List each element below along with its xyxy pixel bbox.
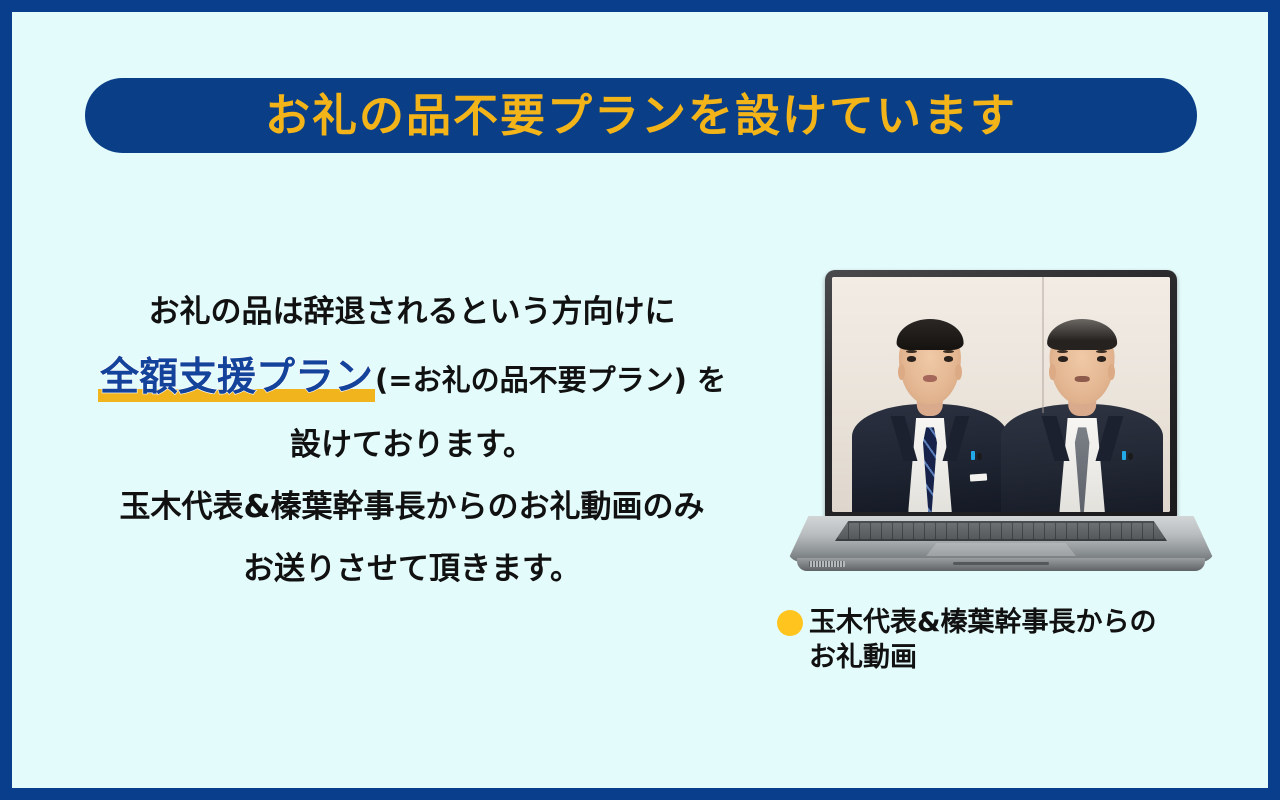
laptop-trackpad — [926, 543, 1076, 556]
title-banner: お礼の品不要プランを設けています — [85, 78, 1197, 153]
keyboard-key — [1013, 523, 1023, 539]
slide-root: お礼の品不要プランを設けています お礼の品は辞退されるという方向けに 全額支援プ… — [0, 0, 1280, 800]
keyboard-key — [860, 523, 870, 539]
keyboard-key — [936, 523, 946, 539]
keyboard-key — [1023, 523, 1033, 539]
filled-circle-icon — [777, 610, 803, 636]
lapel-pin-black-icon — [1128, 453, 1133, 460]
highlight-phrase: 全額支援プラン — [98, 357, 375, 400]
person-left — [852, 277, 1007, 512]
keyboard-key — [1067, 523, 1077, 539]
keyboard-key — [980, 523, 990, 539]
laptop-base — [787, 516, 1215, 578]
eye-right — [944, 356, 953, 361]
keyboard-key — [903, 523, 913, 539]
highlight-phrase-text: 全額支援プラン — [100, 355, 373, 400]
body-line-3: 設けております。 — [42, 428, 782, 462]
lapel-pin-blue-icon — [971, 451, 975, 460]
body-line-1: お礼の品は辞退されるという方向けに — [42, 295, 782, 329]
keyboard-key — [1034, 523, 1044, 539]
laptop-lid-notch — [953, 562, 1049, 565]
caption-line-1: 玉木代表&榛葉幹事長からの — [809, 606, 1157, 641]
laptop-caption: 玉木代表&榛葉幹事長からの お礼動画 — [777, 606, 1247, 675]
keyboard-key — [914, 523, 924, 539]
laptop-lid — [825, 270, 1177, 518]
body-text-block: お礼の品は辞退されるという方向けに 全額支援プラン (=お礼の品不要プラン) を… — [42, 295, 782, 586]
body-line-4: 玉木代表&榛葉幹事長からのお礼動画のみ — [42, 490, 782, 524]
laptop-screen — [832, 277, 1170, 512]
eye-left — [907, 356, 916, 361]
body-line-2: 全額支援プラン (=お礼の品不要プラン) を — [42, 357, 782, 400]
keyboard-key — [1002, 523, 1012, 539]
hair — [1047, 319, 1117, 350]
keyboard-key — [1045, 523, 1055, 539]
person-right — [1001, 277, 1163, 512]
ear-right — [1108, 364, 1115, 380]
keyboard-key — [1122, 523, 1132, 539]
eye-right — [1097, 356, 1107, 361]
keyboard-key — [882, 523, 892, 539]
lapel-pin-black-icon — [977, 453, 982, 460]
body-line-5: お送りさせて頂きます。 — [42, 552, 782, 586]
laptop-keyboard — [835, 521, 1167, 541]
keyboard-key — [1078, 523, 1088, 539]
keyboard-key — [925, 523, 935, 539]
keyboard-key — [1143, 523, 1153, 539]
keyboard-key — [1056, 523, 1066, 539]
caption-line-2: お礼動画 — [809, 641, 1157, 676]
lapel-pin-blue-icon — [1122, 451, 1126, 460]
keyboard-key — [1100, 523, 1110, 539]
video-thumbnail-image — [832, 277, 1170, 512]
eye-left — [1058, 356, 1068, 361]
caption-text: 玉木代表&榛葉幹事長からの お礼動画 — [809, 606, 1157, 675]
keyboard-key — [991, 523, 1001, 539]
keyboard-key — [849, 523, 859, 539]
body-line-2-rest: (=お礼の品不要プラン) を — [375, 363, 726, 397]
banner-title: お礼の品不要プランを設けています — [265, 93, 1017, 138]
keyboard-key — [969, 523, 979, 539]
hair — [897, 319, 964, 350]
keyboard-key — [1089, 523, 1099, 539]
keyboard-key — [947, 523, 957, 539]
keyboard-key — [871, 523, 881, 539]
slide-canvas: お礼の品不要プランを設けています お礼の品は辞退されるという方向けに 全額支援プ… — [12, 12, 1268, 788]
mouth — [1075, 376, 1090, 382]
keyboard-key — [893, 523, 903, 539]
ear-right — [955, 364, 962, 380]
keyboard-key — [958, 523, 968, 539]
keyboard-key — [1132, 523, 1142, 539]
mouth — [923, 375, 937, 382]
laptop-speaker-grille — [809, 561, 845, 567]
laptop-mockup — [787, 270, 1215, 590]
keyboard-key — [1111, 523, 1121, 539]
